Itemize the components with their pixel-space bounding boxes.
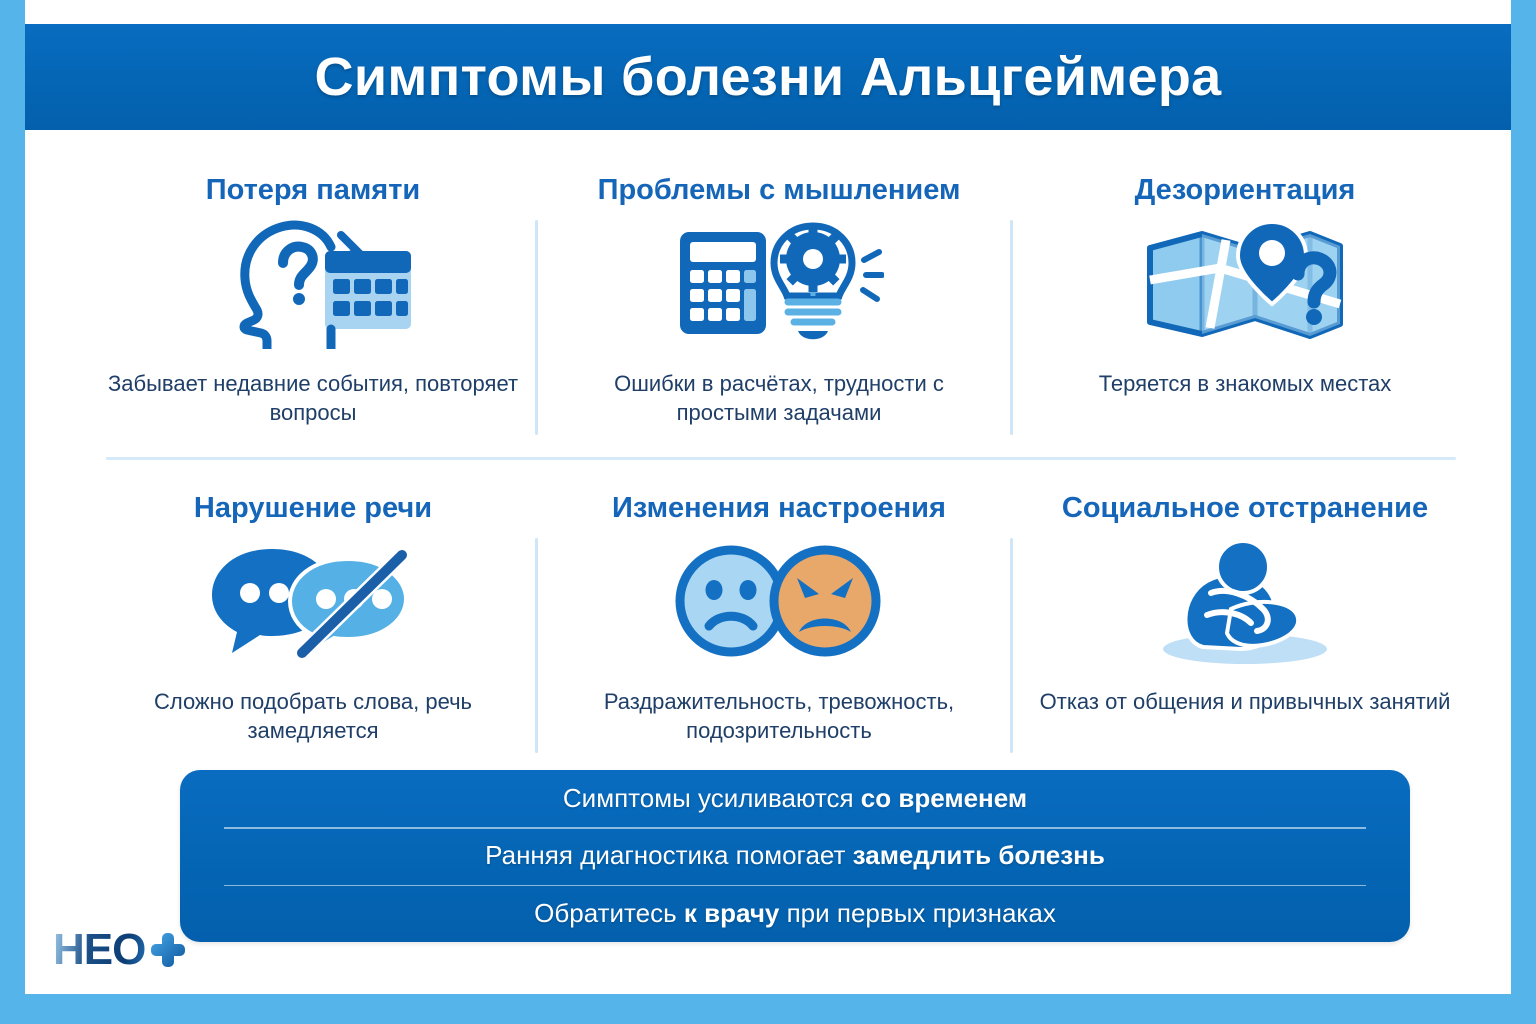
key-messages-panel: Симптомы усиливаются со временем Ранняя … — [180, 770, 1410, 942]
key-message-2-bold: замедлить болезнь — [853, 840, 1105, 870]
card-title: Нарушение речи — [194, 492, 432, 525]
key-message-row: Ранняя диагностика помогает замедлить бо… — [180, 827, 1410, 884]
symptom-card-mood-changes[interactable]: Изменения настроения Р — [546, 468, 1012, 758]
card-title: Изменения настроения — [612, 492, 946, 525]
symptom-card-memory-loss[interactable]: Потеря памяти — [80, 150, 546, 440]
symptom-card-thinking-problems[interactable]: Проблемы с мышлением — [546, 150, 1012, 440]
key-message-3: Обратитесь к врачу при первых признаках — [534, 898, 1056, 929]
card-title: Потеря памяти — [206, 174, 421, 207]
key-message-3-bold: к врачу — [684, 898, 779, 928]
key-message-1-plain-start: Симптомы усиливаются — [563, 783, 861, 813]
card-title: Социальное отстранение — [1062, 492, 1428, 525]
key-message-row: Симптомы усиливаются со временем — [180, 770, 1410, 827]
symptoms-row-2: Нарушение речи — [80, 468, 1480, 758]
symptom-card-disorientation[interactable]: Дезориентация — [1012, 150, 1478, 440]
header-bar: Симптомы болезни Альцгеймера — [25, 24, 1511, 130]
key-message-2: Ранняя диагностика помогает замедлить бо… — [485, 840, 1105, 871]
card-description: Сложно подобрать слова, речь замедляется — [98, 687, 528, 746]
brand-logo-text: НЕО — [53, 928, 145, 972]
card-description: Отказ от общения и привычных занятий — [1040, 687, 1451, 716]
key-message-row: Обратитесь к врачу при первых признаках — [180, 885, 1410, 942]
person-sitting-alone-icon — [1012, 531, 1478, 671]
plus-icon — [151, 933, 185, 967]
key-message-2-plain-start: Ранняя диагностика помогает — [485, 840, 853, 870]
brand-logo: НЕО — [53, 928, 185, 972]
head-question-calendar-icon — [80, 213, 546, 353]
symptom-card-social-withdrawal[interactable]: Социальное отстранение — [1012, 468, 1478, 758]
card-title: Дезориентация — [1135, 174, 1356, 207]
map-pin-question-icon — [1012, 213, 1478, 353]
key-message-1-bold: со временем — [861, 783, 1027, 813]
card-description: Забывает недавние события, повторяет воп… — [98, 369, 528, 428]
key-message-3-plain-end: при первых признаках — [779, 898, 1055, 928]
card-description: Ошибки в расчётах, трудности с простыми … — [564, 369, 994, 428]
symptom-card-speech-impairment[interactable]: Нарушение речи — [80, 468, 546, 758]
speech-bubbles-slash-icon — [80, 531, 546, 671]
horizontal-divider — [106, 457, 1456, 460]
card-title: Проблемы с мышлением — [598, 174, 961, 207]
key-message-3-plain-start: Обратитесь — [534, 898, 684, 928]
symptoms-row-1: Потеря памяти — [80, 150, 1480, 440]
page-title: Симптомы болезни Альцгеймера — [315, 46, 1222, 108]
calculator-lightbulb-gear-icon — [546, 213, 1012, 353]
poster-canvas: Симптомы болезни Альцгеймера Потеря памя… — [25, 0, 1511, 994]
card-description: Раздражительность, тревожность, подозрит… — [564, 687, 994, 746]
sad-angry-faces-icon — [546, 531, 1012, 671]
symptoms-grid: Потеря памяти — [80, 150, 1480, 760]
card-description: Теряется в знакомых местах — [1099, 369, 1392, 398]
key-message-1: Симптомы усиливаются со временем — [563, 783, 1027, 814]
